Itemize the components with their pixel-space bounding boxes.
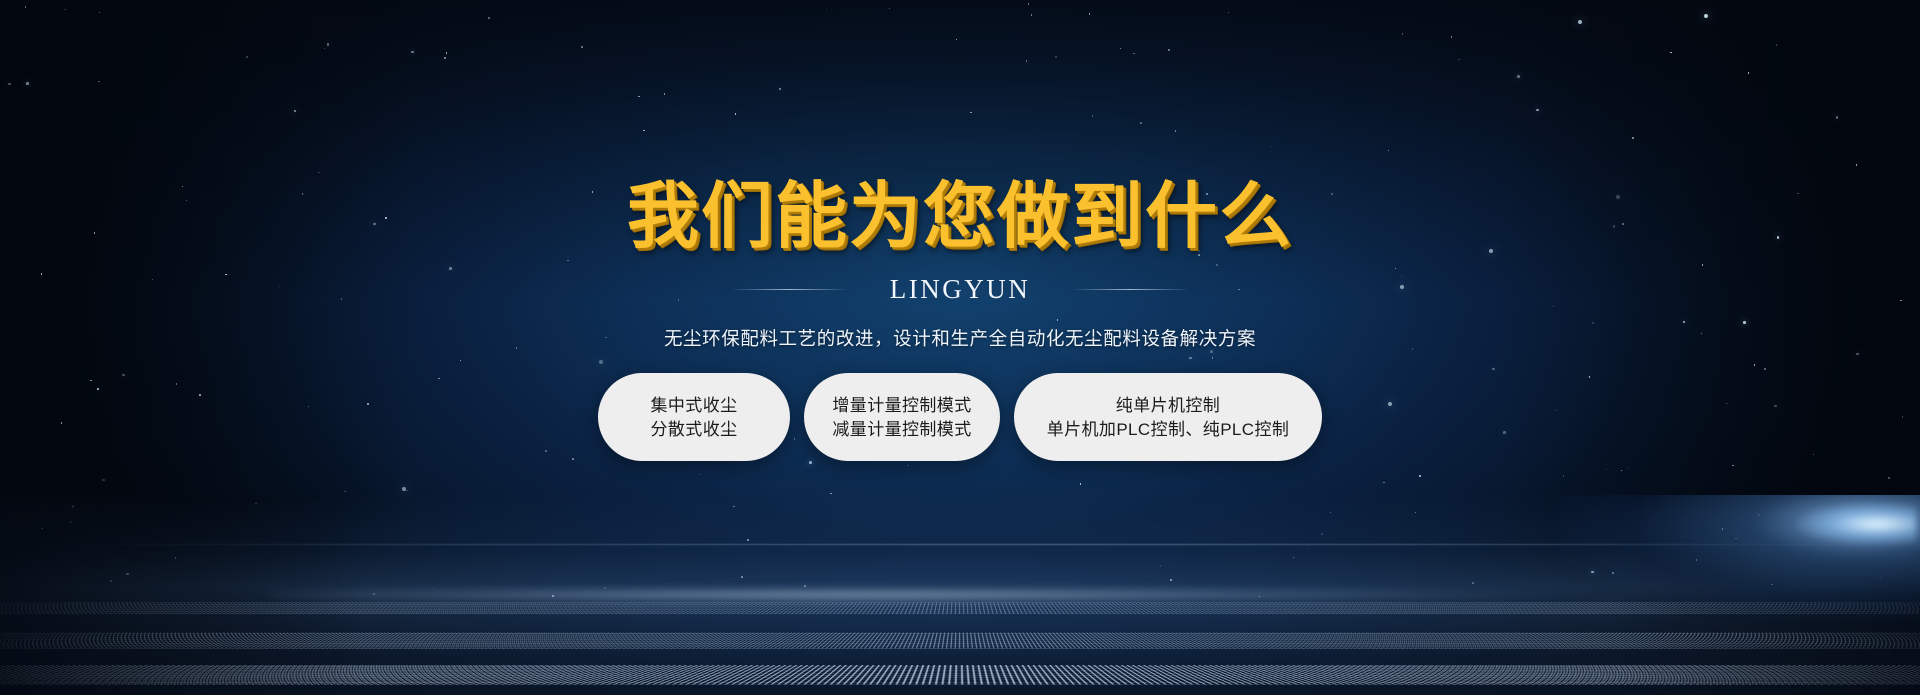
card-line-secondary: 分散式收尘: [651, 421, 738, 438]
feature-card-metering-mode[interactable]: 增量计量控制模式 减量计量控制模式: [804, 373, 1000, 461]
card-line-primary: 纯单片机控制: [1116, 397, 1220, 414]
brand-divider-row: LINGYUN: [734, 274, 1186, 305]
hero-banner: 我们能为您做到什么 LINGYUN 无尘环保配料工艺的改进，设计和生产全自动化无…: [0, 0, 1920, 695]
card-line-secondary: 减量计量控制模式: [832, 421, 971, 438]
divider-line-left: [734, 289, 846, 290]
feature-card-dust-collection[interactable]: 集中式收尘 分散式收尘: [598, 373, 790, 461]
brand-name: LINGYUN: [890, 274, 1030, 305]
divider-line-right: [1074, 289, 1186, 290]
hero-content: 我们能为您做到什么 LINGYUN 无尘环保配料工艺的改进，设计和生产全自动化无…: [0, 0, 1920, 695]
feature-card-list: 集中式收尘 分散式收尘 增量计量控制模式 减量计量控制模式 纯单片机控制 单片机…: [598, 373, 1322, 461]
card-line-primary: 集中式收尘: [651, 397, 738, 414]
card-line-primary: 增量计量控制模式: [832, 397, 971, 414]
feature-card-control-system[interactable]: 纯单片机控制 单片机加PLC控制、纯PLC控制: [1014, 373, 1322, 461]
page-title: 我们能为您做到什么: [627, 180, 1293, 252]
card-line-secondary: 单片机加PLC控制、纯PLC控制: [1047, 421, 1290, 438]
hero-tagline: 无尘环保配料工艺的改进，设计和生产全自动化无尘配料设备解决方案: [664, 325, 1256, 351]
